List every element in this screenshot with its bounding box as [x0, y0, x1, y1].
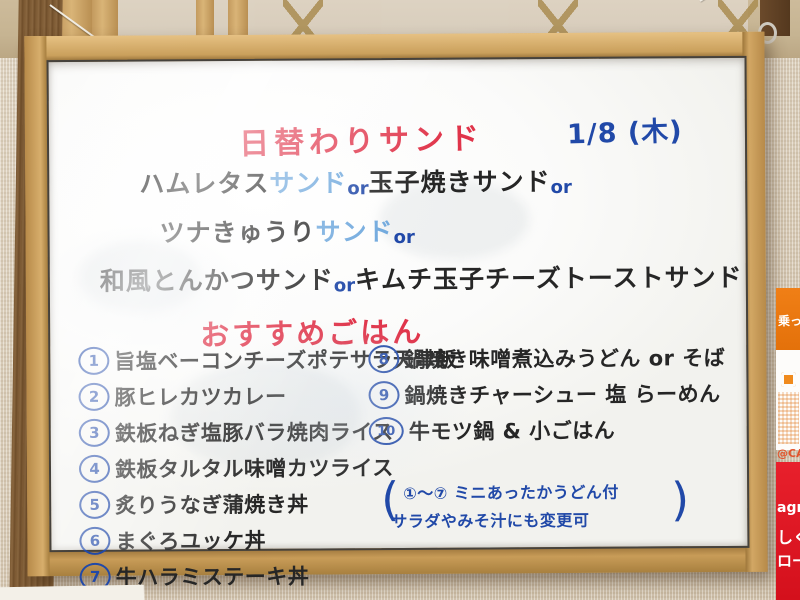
- menu-item-4: 4鉄板タルタル味噌カツライス: [79, 452, 394, 484]
- sandwich-line-1-segment-5: or: [551, 177, 572, 198]
- sandwich-line-3-segment-2: or: [334, 275, 355, 296]
- qr-code-icon: [781, 372, 796, 387]
- menu-item-number-5: 5: [79, 491, 110, 519]
- sandwich-line-1-segment-3: or: [347, 178, 368, 199]
- sandwich-line-2-segment-2: サンド: [315, 217, 393, 246]
- photo-scene: 日替わりサンド 1/8 (木) ハムレタスサンドor玉子焼きサンドor ツナきゅ…: [0, 0, 800, 600]
- red-poster-line-2: しく: [777, 524, 800, 548]
- menu-item-2: 2豚ヒレカツカレー: [78, 381, 286, 412]
- menu-item-number-6: 6: [79, 527, 110, 555]
- red-poster-line-1: agra: [777, 500, 800, 516]
- menu-item-label-7: 牛ハラミステーキ丼: [116, 561, 310, 592]
- qr-code-pattern: [778, 392, 799, 444]
- sandwich-line-3: 和風とんかつサンドorキムチ玉子チーズトーストサンド: [100, 258, 743, 298]
- menu-item-label-10: 牛モツ鍋 & 小ごはん: [409, 415, 616, 446]
- note-close-paren: ): [671, 472, 689, 526]
- menu-column-left: 1旨塩ベーコンチーズポテサラ天津飯2豚ヒレカツカレー3鉄板ねぎ塩豚バラ焼肉ライス…: [49, 58, 745, 62]
- menu-item-number-2: 2: [78, 383, 109, 411]
- menu-item-6: 6まぐろユッケ丼: [79, 525, 266, 556]
- menu-item-number-1: 1: [78, 347, 109, 375]
- note-line-2: サラダやみそ汁にも変更可: [391, 509, 589, 534]
- sandwich-line-1-segment-2: サンド: [269, 168, 347, 197]
- menu-item-label-8: 鍋焼き味噌煮込みうどん or そば: [404, 342, 725, 374]
- menu-item-label-5: 炙りうなぎ蒲焼き丼: [115, 489, 309, 520]
- menu-column-right: 8鍋焼き味噌煮込みうどん or そば9鍋焼きチャーシュー 塩 らーめん10牛モツ…: [49, 58, 745, 62]
- sandwich-line-3-segment-1: 和風とんかつサンド: [100, 265, 334, 295]
- menu-item-10: 10牛モツ鍋 & 小ごはん: [369, 415, 616, 447]
- sandwich-line-2-segment-3: or: [394, 227, 415, 248]
- menu-title: 日替わりサンド: [239, 113, 485, 163]
- whiteboard-frame: 日替わりサンド 1/8 (木) ハムレタスサンドor玉子焼きサンドor ツナきゅ…: [24, 32, 767, 577]
- menu-item-5: 5炙りうなぎ蒲焼き丼: [79, 489, 309, 520]
- menu-item-8: 8鍋焼き味噌煮込みうどん or そば: [368, 342, 725, 374]
- whiteboard-surface: 日替わりサンド 1/8 (木) ハムレタスサンドor玉子焼きサンドor ツナきゅ…: [47, 56, 750, 552]
- sandwich-line-2-segment-1: ツナきゅうり: [159, 217, 315, 247]
- date-label: 1/8 (木): [566, 109, 683, 152]
- menu-item-label-9: 鍋焼きチャーシュー 塩 らーめん: [404, 378, 720, 410]
- sandwich-line-1-segment-1: ハムレタス: [139, 169, 269, 199]
- red-poster-line-3: ロー: [777, 550, 800, 571]
- sandwich-line-2: ツナきゅうりサンドor: [159, 212, 414, 250]
- menu-item-number-9: 9: [368, 381, 399, 409]
- menu-item-number-3: 3: [79, 419, 110, 447]
- menu-item-3: 3鉄板ねぎ塩豚バラ焼肉ライス: [79, 416, 394, 448]
- sandwich-line-3-segment-3: キムチ玉子チーズトーストサンド: [355, 263, 743, 294]
- paper-scrap: [0, 585, 144, 600]
- menu-item-label-4: 鉄板タルタル味噌カツライス: [115, 452, 394, 484]
- menu-item-number-10: 10: [369, 417, 404, 445]
- sandwich-line-1: ハムレタスサンドor玉子焼きサンドor: [139, 162, 572, 201]
- social-handle-text: @CAF: [777, 447, 800, 460]
- menu-item-number-4: 4: [79, 455, 110, 483]
- menu-item-label-3: 鉄板ねぎ塩豚バラ焼肉ライス: [115, 416, 394, 448]
- menu-item-9: 9鍋焼きチャーシュー 塩 らーめん: [368, 378, 720, 410]
- menu-item-label-2: 豚ヒレカツカレー: [114, 381, 286, 412]
- sandwich-line-1-segment-4: 玉子焼きサンド: [368, 167, 550, 197]
- menu-item-label-6: まぐろユッケ丼: [115, 525, 266, 556]
- menu-item-number-8: 8: [368, 345, 399, 373]
- orange-poster-text: 乗っ: [778, 312, 800, 329]
- note-line-1: ①〜⑦ ミニあったかうどん付: [403, 481, 619, 506]
